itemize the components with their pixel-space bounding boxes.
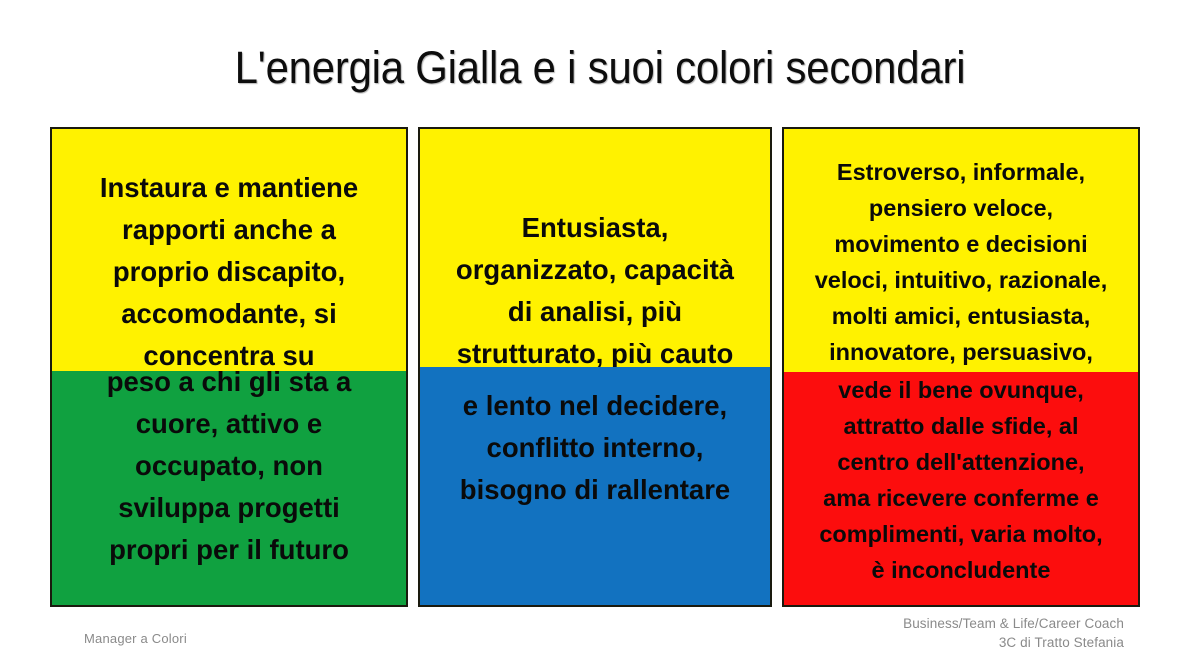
band-green: peso a chi gli sta a cuore, attivo e occ… xyxy=(52,371,406,605)
column-yellow-blue: Entusiasta, organizzato, capacità di ana… xyxy=(418,127,772,607)
band-red: vede il bene ovunque, attratto dalle sfi… xyxy=(784,372,1138,605)
band-blue-text: e lento nel decidere, conflitto interno,… xyxy=(420,385,770,511)
footer-credits: Business/Team & Life/Career Coach 3C di … xyxy=(903,614,1124,652)
color-columns-container: Instaura e mantiene rapporti anche a pro… xyxy=(50,127,1140,607)
band-yellow-1: Instaura e mantiene rapporti anche a pro… xyxy=(52,129,406,371)
band-green-text: peso a chi gli sta a cuore, attivo e occ… xyxy=(52,361,406,571)
band-yellow-3-text: Estroverso, informale, pensiero veloce, … xyxy=(784,154,1138,370)
column-yellow-green: Instaura e mantiene rapporti anche a pro… xyxy=(50,127,408,607)
band-yellow-2-text: Entusiasta, organizzato, capacità di ana… xyxy=(420,207,770,375)
band-blue: e lento nel decidere, conflitto interno,… xyxy=(420,367,770,605)
band-yellow-3: Estroverso, informale, pensiero veloce, … xyxy=(784,129,1138,372)
footer-brand: Manager a Colori xyxy=(84,630,187,648)
footer-credits-line-2: 3C di Tratto Stefania xyxy=(903,633,1124,652)
footer-credits-line-1: Business/Team & Life/Career Coach xyxy=(903,614,1124,633)
page-title: L'energia Gialla e i suoi colori seconda… xyxy=(42,40,1158,96)
column-yellow-red: Estroverso, informale, pensiero veloce, … xyxy=(782,127,1140,607)
band-yellow-2: Entusiasta, organizzato, capacità di ana… xyxy=(420,129,770,367)
band-red-text: vede il bene ovunque, attratto dalle sfi… xyxy=(784,372,1138,588)
